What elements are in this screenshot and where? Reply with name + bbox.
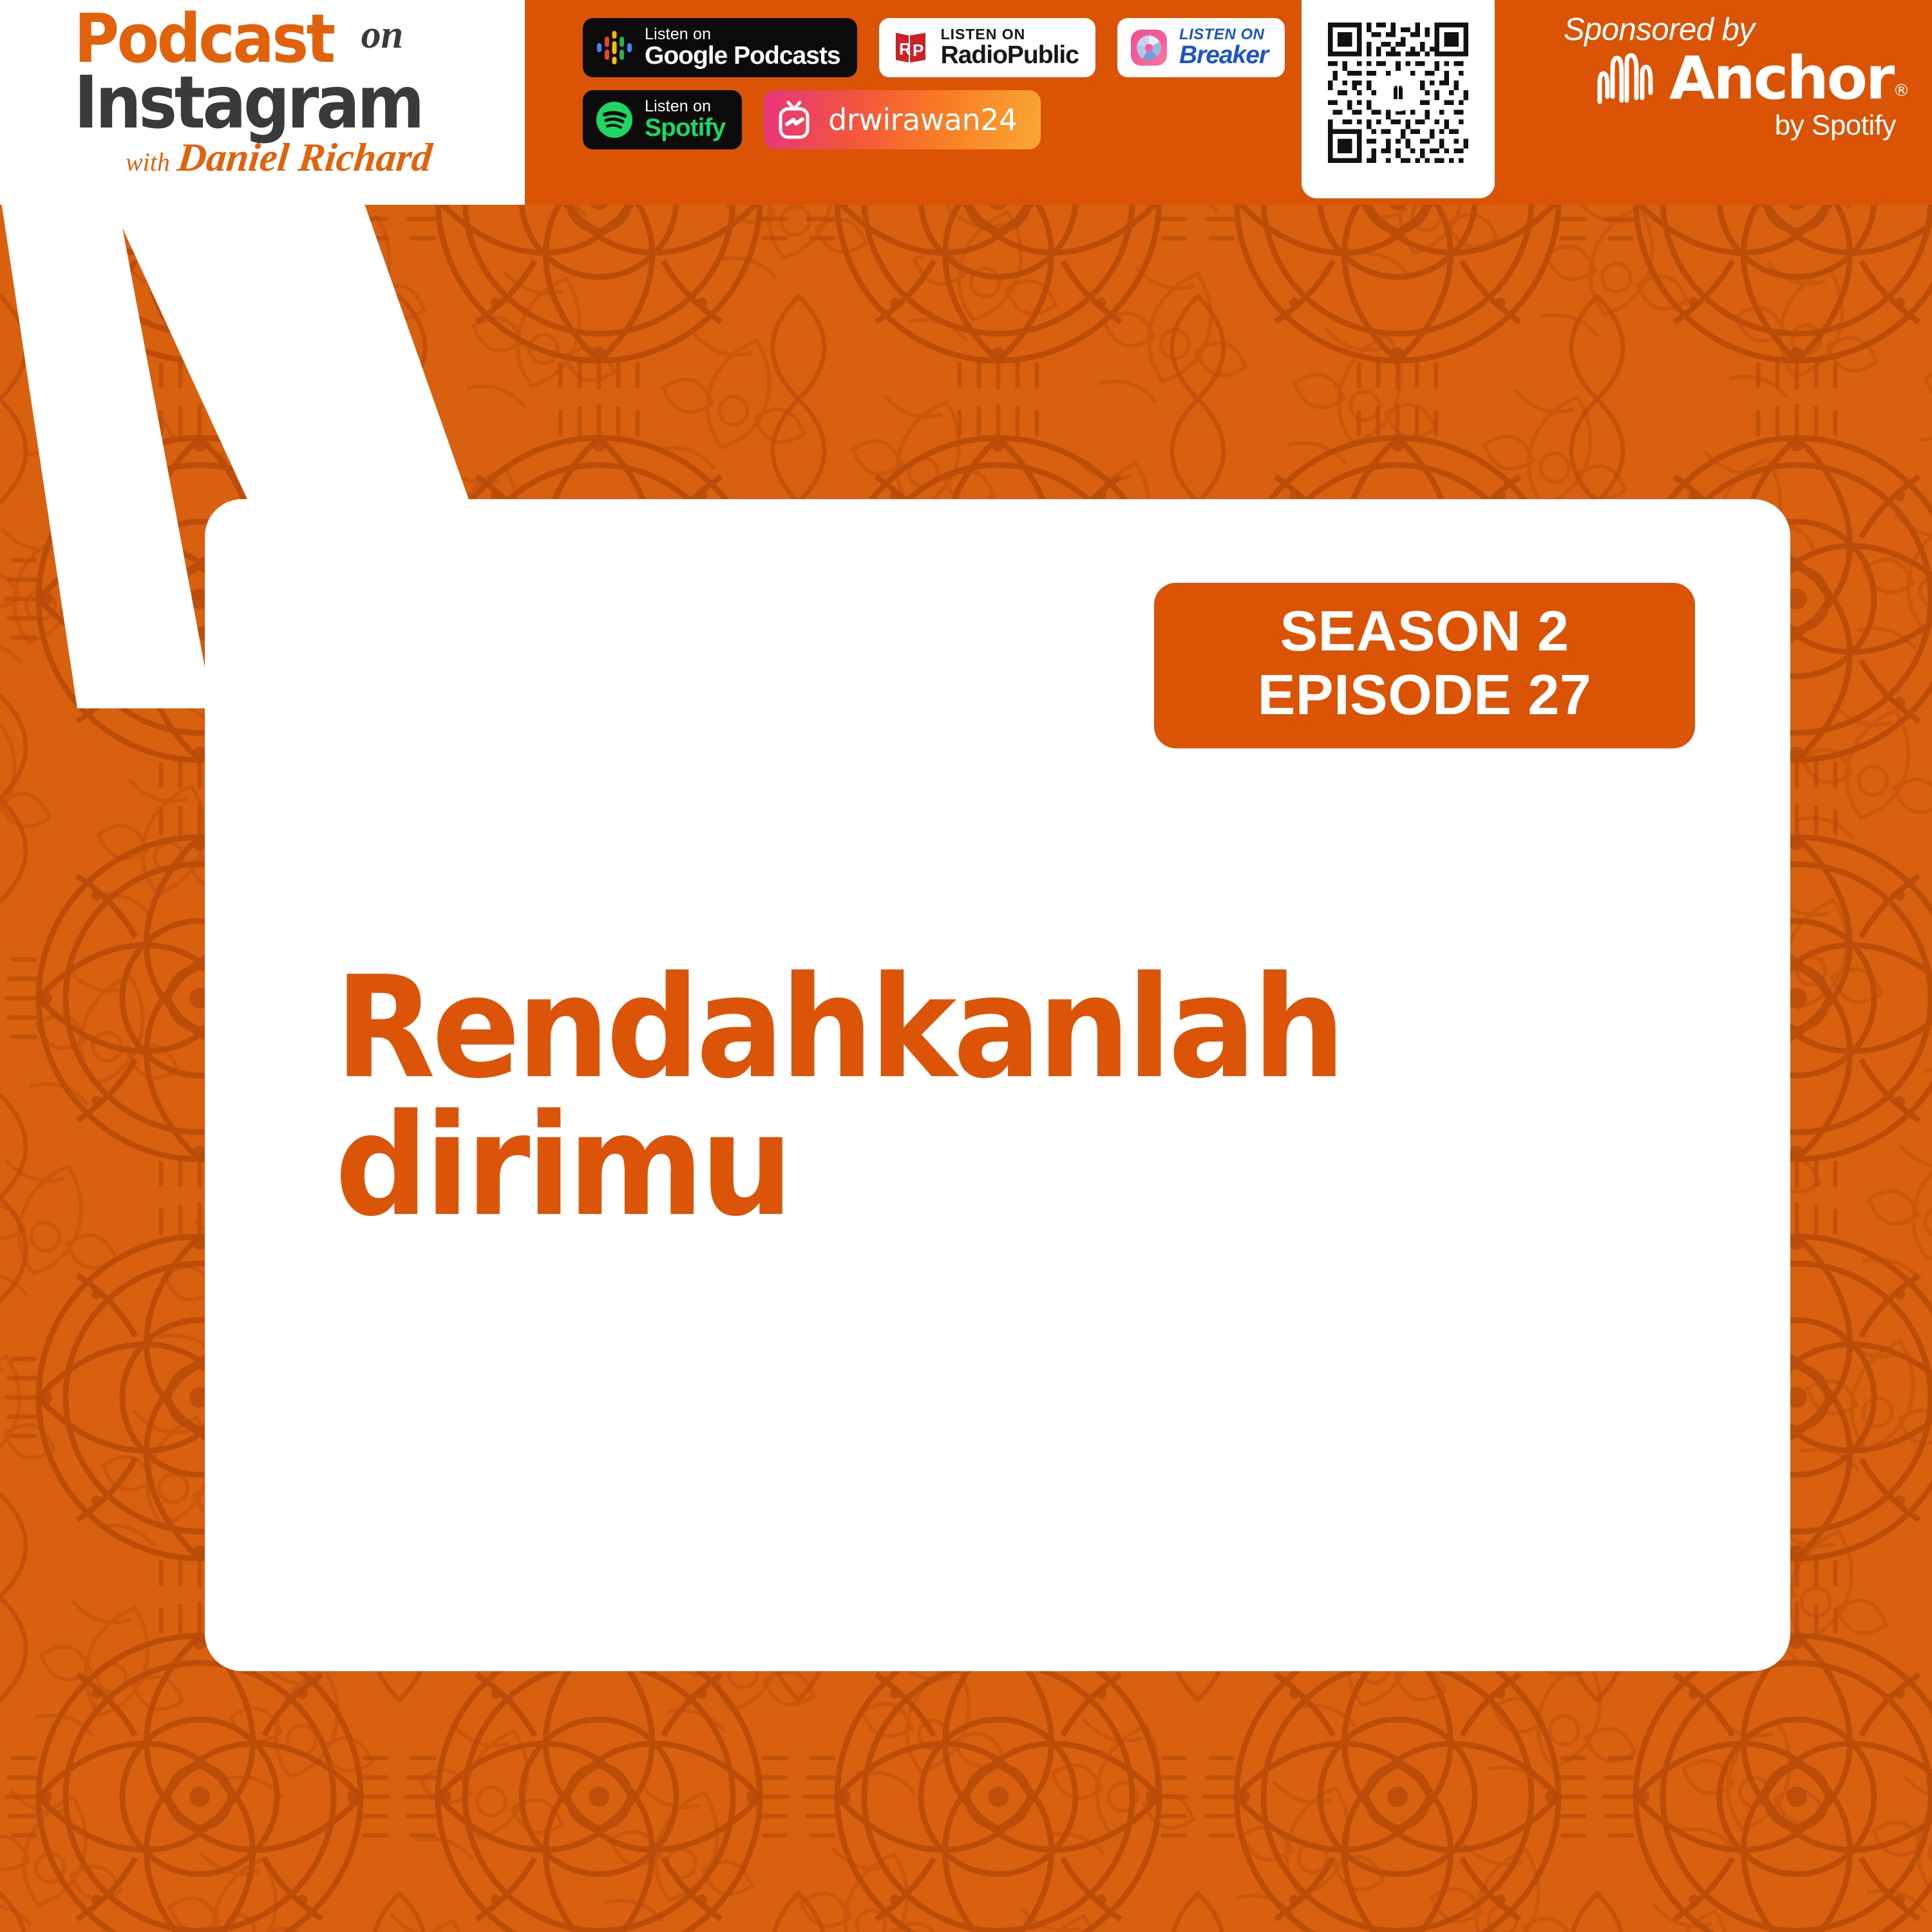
qr-code bbox=[1328, 23, 1468, 163]
sponsored-by-label: Sponsored by bbox=[1564, 12, 1906, 48]
qr-code-panel[interactable] bbox=[1302, 0, 1495, 198]
anchor-brand-name: Anchor® bbox=[1669, 49, 1909, 108]
badge-radiopublic[interactable]: R P LISTEN ON RadioPublic bbox=[879, 18, 1095, 77]
radiopublic-icon: R P bbox=[891, 28, 931, 68]
badge-radiopublic-big: RadioPublic bbox=[941, 43, 1079, 68]
instagram-handle-text: drwirawan24 bbox=[828, 102, 1018, 137]
logo-with-word: with bbox=[126, 147, 170, 177]
badge-google-podcasts[interactable]: Listen on Google Podcasts bbox=[583, 18, 857, 77]
listen-badges: Listen on Google Podcasts R P LISTEN ON bbox=[583, 18, 1285, 162]
badge-spotify[interactable]: Listen on Spotify bbox=[583, 90, 742, 149]
badge-instagram-handle[interactable]: drwirawan24 bbox=[764, 90, 1041, 149]
badge-breaker[interactable]: LISTEN ON Breaker bbox=[1117, 18, 1285, 77]
badge-spotify-small: Listen on bbox=[645, 99, 725, 115]
badge-breaker-small: LISTEN ON bbox=[1179, 27, 1268, 43]
logo-instagram-word: Instagram bbox=[74, 67, 474, 139]
podcast-logo: Podcaston Instagram withDaniel Richard bbox=[74, 5, 518, 198]
anchor-brand-row: Anchor® bbox=[1596, 49, 1906, 108]
anchor-by-spotify-label: by Spotify bbox=[1546, 109, 1896, 142]
badge-spotify-big: Spotify bbox=[645, 115, 725, 141]
badge-spotify-text: Listen on Spotify bbox=[645, 99, 725, 140]
episode-title-line-1: Rendahkanlah bbox=[335, 960, 1629, 1097]
igtv-icon bbox=[773, 99, 815, 141]
breaker-icon bbox=[1129, 28, 1169, 68]
episode-label: EPISODE 27 bbox=[1154, 663, 1695, 727]
badge-google-podcasts-small: Listen on bbox=[645, 26, 840, 43]
logo-host-name: Daniel Richard bbox=[175, 135, 434, 181]
badge-google-podcasts-text: Listen on Google Podcasts bbox=[645, 26, 840, 68]
episode-title: Rendahkanlah dirimu bbox=[335, 960, 1629, 1235]
episode-title-line-2: dirimu bbox=[335, 1097, 1629, 1235]
svg-text:P: P bbox=[913, 41, 923, 60]
anchor-wordmark: Anchor bbox=[1669, 44, 1893, 113]
registered-mark: ® bbox=[1893, 81, 1909, 100]
badge-breaker-big: Breaker bbox=[1179, 43, 1268, 68]
badge-google-podcasts-big: Google Podcasts bbox=[645, 43, 840, 69]
anchor-waveform-icon bbox=[1596, 52, 1665, 106]
anchor-logo-icon bbox=[1379, 74, 1417, 111]
logo-on-word: on bbox=[361, 12, 403, 58]
season-label: SEASON 2 bbox=[1154, 600, 1695, 663]
badge-radiopublic-small: LISTEN ON bbox=[941, 27, 1079, 42]
google-podcasts-icon bbox=[594, 28, 634, 68]
badge-breaker-text: LISTEN ON Breaker bbox=[1179, 27, 1268, 68]
podcast-cover: Podcaston Instagram withDaniel Richard bbox=[0, 0, 1932, 1932]
badge-row-top: Listen on Google Podcasts R P LISTEN ON bbox=[583, 18, 1285, 77]
logo-host-line: withDaniel Richard bbox=[126, 135, 518, 181]
season-episode-badge: SEASON 2 EPISODE 27 bbox=[1154, 583, 1695, 748]
badge-radiopublic-text: LISTEN ON RadioPublic bbox=[941, 27, 1079, 68]
sponsor-block: Sponsored by Anchor® by Spotify bbox=[1546, 12, 1906, 142]
svg-text:R: R bbox=[899, 39, 911, 59]
spotify-icon bbox=[594, 100, 634, 140]
badge-row-bottom: Listen on Spotify drwirawan24 bbox=[583, 90, 1285, 149]
